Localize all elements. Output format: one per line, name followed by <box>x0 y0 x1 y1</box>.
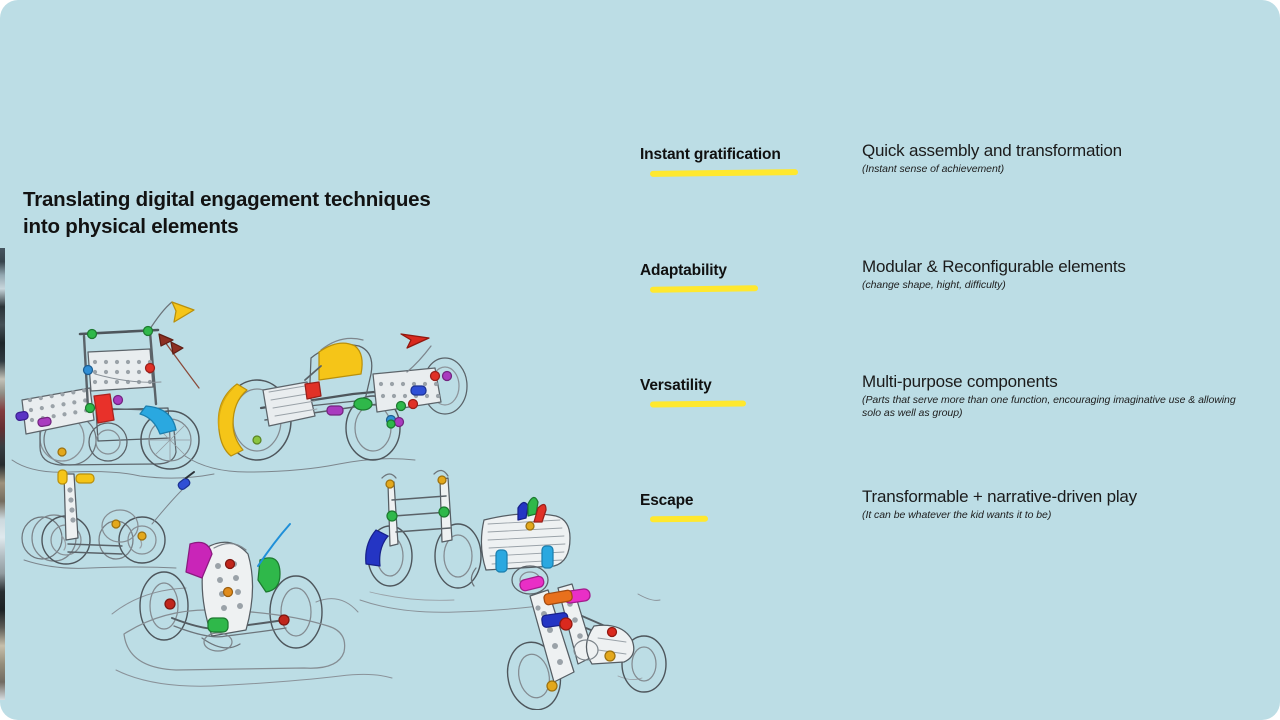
principle-description-group: Quick assembly and transformation (Insta… <box>862 141 1262 176</box>
principle-detail: (It can be whatever the kid wants it to … <box>862 509 1262 522</box>
sketch-balance-bike <box>501 575 666 710</box>
sketch-modular-buggy <box>12 302 214 478</box>
principle-term: Adaptability <box>640 262 727 280</box>
highlight-underline <box>650 169 798 177</box>
sketch-scooter <box>22 470 194 568</box>
principle-term: Instant gratification <box>640 146 781 164</box>
principle-detail: (Instant sense of achievement) <box>862 163 1262 176</box>
page-title-line-1: Translating digital engagement technique… <box>23 188 431 211</box>
page-title: Translating digital engagement technique… <box>23 186 493 240</box>
principle-description: Modular & Reconfigurable elements <box>862 257 1262 277</box>
principle-detail: (change shape, hight, difficulty) <box>862 279 1262 292</box>
principle-description-group: Transformable + narrative-driven play (I… <box>862 487 1262 522</box>
principle-description-group: Multi-purpose components (Parts that ser… <box>862 372 1262 421</box>
illustration-group <box>0 300 690 710</box>
principle-description: Multi-purpose components <box>862 372 1262 392</box>
sketch-cart-trailer <box>360 470 570 612</box>
principle-description: Transformable + narrative-driven play <box>862 487 1262 507</box>
page-title-line-2: into physical elements <box>23 215 238 238</box>
principle-description: Quick assembly and transformation <box>862 141 1262 161</box>
principle-description-group: Modular & Reconfigurable elements (chang… <box>862 257 1262 292</box>
highlight-underline <box>650 285 758 293</box>
slide-canvas: Translating digital engagement technique… <box>0 0 1280 720</box>
principle-detail: (Parts that serve more than one function… <box>862 394 1254 421</box>
